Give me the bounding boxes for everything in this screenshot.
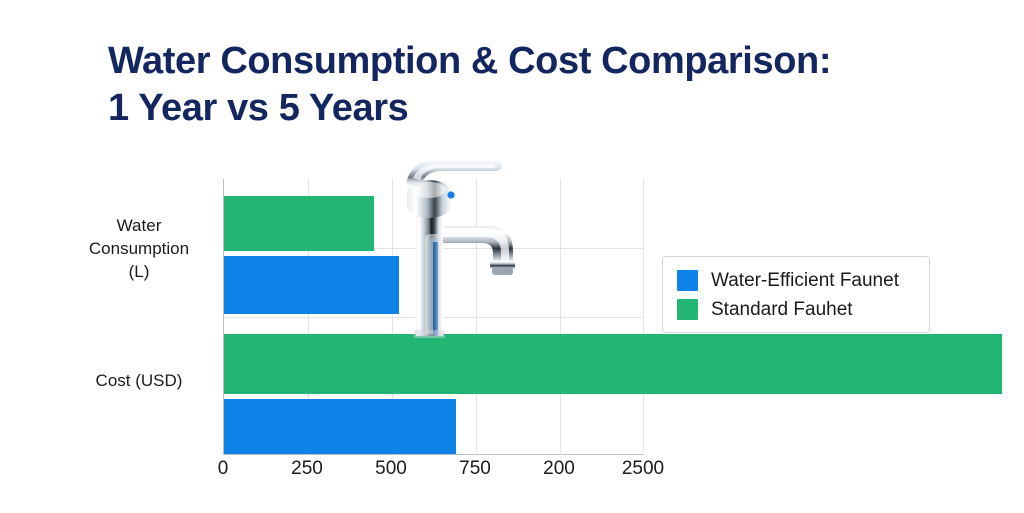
ytick-label-cost: Cost (USD) (60, 369, 218, 392)
legend-item-water-efficient[interactable]: Water-Efficient Faunet (677, 266, 917, 295)
xtick-label-0: 0 (183, 458, 263, 480)
xtick-label-4: 200 (519, 458, 599, 480)
xtick-label-1: 250 (267, 458, 347, 480)
legend-label-water-efficient: Water-Efficient Faunet (711, 270, 899, 292)
bar-cost-efficient[interactable] (224, 399, 456, 454)
gridline-horizontal (224, 317, 644, 318)
xtick-label-3: 750 (435, 458, 515, 480)
legend-swatch-blue-icon (677, 270, 698, 291)
bar-water-consumption-standard[interactable] (224, 196, 374, 251)
ytick-label-water-consumption: Water Consumption (L) (60, 214, 218, 283)
legend: Water-Efficient Faunet Standard Fauhet (662, 256, 930, 333)
ytick-label-water-line-3: (L) (60, 260, 218, 283)
xtick-label-2: 500 (351, 458, 431, 480)
bar-cost-standard[interactable] (224, 334, 1002, 394)
legend-item-standard[interactable]: Standard Fauhet (677, 295, 917, 324)
bar-water-consumption-efficient[interactable] (224, 256, 399, 314)
legend-label-standard: Standard Fauhet (711, 299, 853, 321)
ytick-label-water-line-2: Consumption (60, 237, 218, 260)
slide-canvas: Water Consumption & Cost Comparison: 1 Y… (0, 0, 1024, 513)
ytick-label-water-line-1: Water (60, 214, 218, 237)
plot-area (223, 179, 643, 455)
bar-chart: 0 250 500 750 200 2500 Water Consumption… (0, 0, 1024, 513)
xtick-label-5: 2500 (603, 458, 683, 480)
legend-swatch-green-icon (677, 299, 698, 320)
